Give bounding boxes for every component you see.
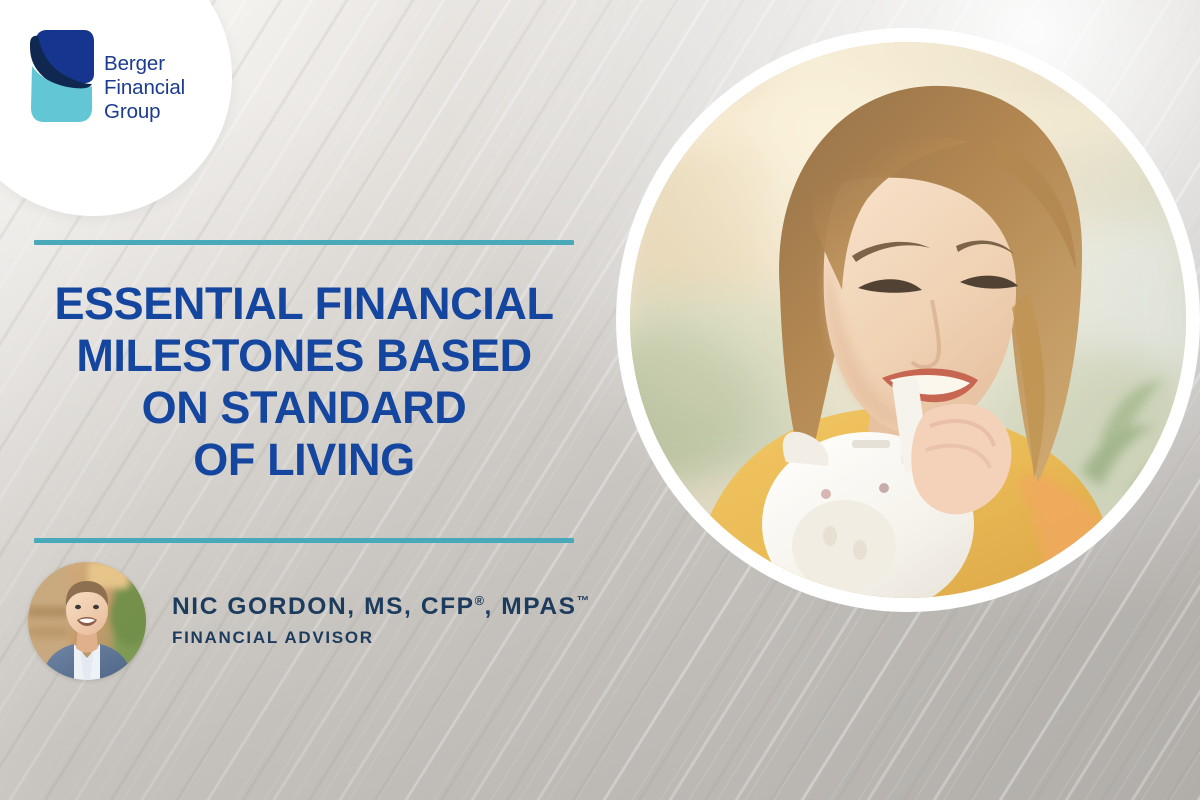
advisor-name-tail: , MPAS (484, 593, 576, 620)
title-line-1: ESSENTIAL FINANCIAL (16, 278, 592, 330)
divider-rule-bottom (34, 538, 574, 543)
marketing-graphic-canvas: Berger Financial Group ESSENTIAL FINANCI… (0, 0, 1200, 800)
left-content-column: ESSENTIAL FINANCIAL MILESTONES BASED ON … (0, 0, 600, 800)
advisor-block: NIC GORDON, MS, CFP®, MPAS™ FINANCIAL AD… (28, 562, 590, 680)
advisor-name: NIC GORDON, MS, CFP®, MPAS™ (172, 592, 590, 621)
avatar (28, 562, 146, 680)
hero-photo (630, 42, 1186, 598)
hero-photo-frame (616, 28, 1200, 612)
title-line-4: OF LIVING (16, 434, 592, 486)
title-line-2: MILESTONES BASED (16, 330, 592, 382)
page-title: ESSENTIAL FINANCIAL MILESTONES BASED ON … (16, 278, 592, 486)
title-line-3: ON STANDARD (16, 382, 592, 434)
divider-rule-top (34, 240, 574, 245)
advisor-text: NIC GORDON, MS, CFP®, MPAS™ FINANCIAL AD… (172, 592, 590, 650)
trademark-mark: ™ (577, 593, 590, 608)
advisor-role: FINANCIAL ADVISOR (172, 628, 590, 648)
registered-mark: ® (475, 593, 485, 608)
advisor-name-main: NIC GORDON, MS, CFP (172, 593, 475, 620)
